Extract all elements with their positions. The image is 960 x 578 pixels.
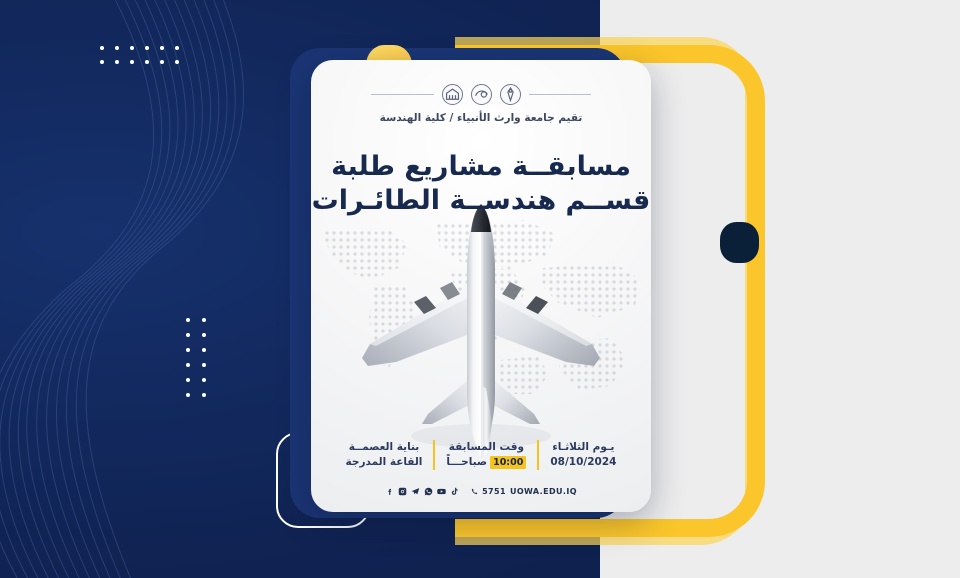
organizer-text: تقيم جامعة وارث الأنبياء / كلية الهندسة bbox=[380, 112, 583, 124]
info-cell-time: وقت المسابقة 10:00 صباحـــاً bbox=[435, 440, 539, 470]
poster-card: تقيم جامعة وارث الأنبياء / كلية الهندسة … bbox=[311, 60, 651, 512]
date-value: 08/10/2024 bbox=[550, 455, 616, 470]
facebook-icon[interactable] bbox=[385, 487, 394, 496]
header-rule-right bbox=[529, 94, 592, 95]
venue-building: بناية العصمــة bbox=[346, 440, 423, 455]
title-line-2: قســم هندســة الطائـرات bbox=[312, 184, 651, 218]
instagram-icon[interactable] bbox=[398, 487, 407, 496]
time-value-row: 10:00 صباحـــاً bbox=[446, 455, 526, 470]
college-seal-icon bbox=[471, 84, 492, 105]
phone-icon bbox=[471, 488, 478, 495]
phone-number[interactable]: 5751 bbox=[482, 487, 506, 496]
department-seal-icon bbox=[442, 84, 463, 105]
whatsapp-icon[interactable] bbox=[424, 487, 433, 496]
date-day-label: يـوم الثلاثـاء bbox=[550, 440, 616, 455]
telegram-icon[interactable] bbox=[411, 487, 420, 496]
title-line-1: مسابقــة مشاريع طلبة bbox=[312, 150, 651, 184]
university-seal-icon bbox=[500, 84, 521, 105]
dot-grid-top bbox=[100, 46, 180, 66]
dot-grid-left bbox=[186, 318, 212, 396]
youtube-icon[interactable] bbox=[437, 487, 446, 496]
website-url[interactable]: UOWA.EDU.IQ bbox=[510, 487, 577, 496]
time-period-label: صباحـــاً bbox=[446, 455, 487, 470]
card-footer: 5751 UOWA.EDU.IQ bbox=[311, 487, 651, 496]
info-cell-date: يـوم الثلاثـاء 08/10/2024 bbox=[539, 440, 627, 470]
card-header: تقيم جامعة وارث الأنبياء / كلية الهندسة bbox=[311, 84, 651, 124]
airplane-top-view-illustration bbox=[336, 196, 626, 466]
event-info-bar: يـوم الثلاثـاء 08/10/2024 وقت المسابقة 1… bbox=[311, 440, 651, 470]
navy-circle-decoration bbox=[720, 222, 759, 263]
poster-title: مسابقــة مشاريع طلبة قســم هندســة الطائ… bbox=[312, 150, 651, 218]
venue-hall: القاعة المدرجة bbox=[346, 455, 423, 470]
time-chip: 10:00 bbox=[490, 456, 526, 470]
time-label: وقت المسابقة bbox=[446, 440, 526, 455]
poster-canvas: تقيم جامعة وارث الأنبياء / كلية الهندسة … bbox=[0, 0, 960, 578]
header-rule-left bbox=[371, 94, 434, 95]
logo-row bbox=[371, 84, 591, 105]
tiktok-icon[interactable] bbox=[450, 487, 459, 496]
info-cell-venue: بناية العصمــة القاعة المدرجة bbox=[335, 440, 436, 470]
